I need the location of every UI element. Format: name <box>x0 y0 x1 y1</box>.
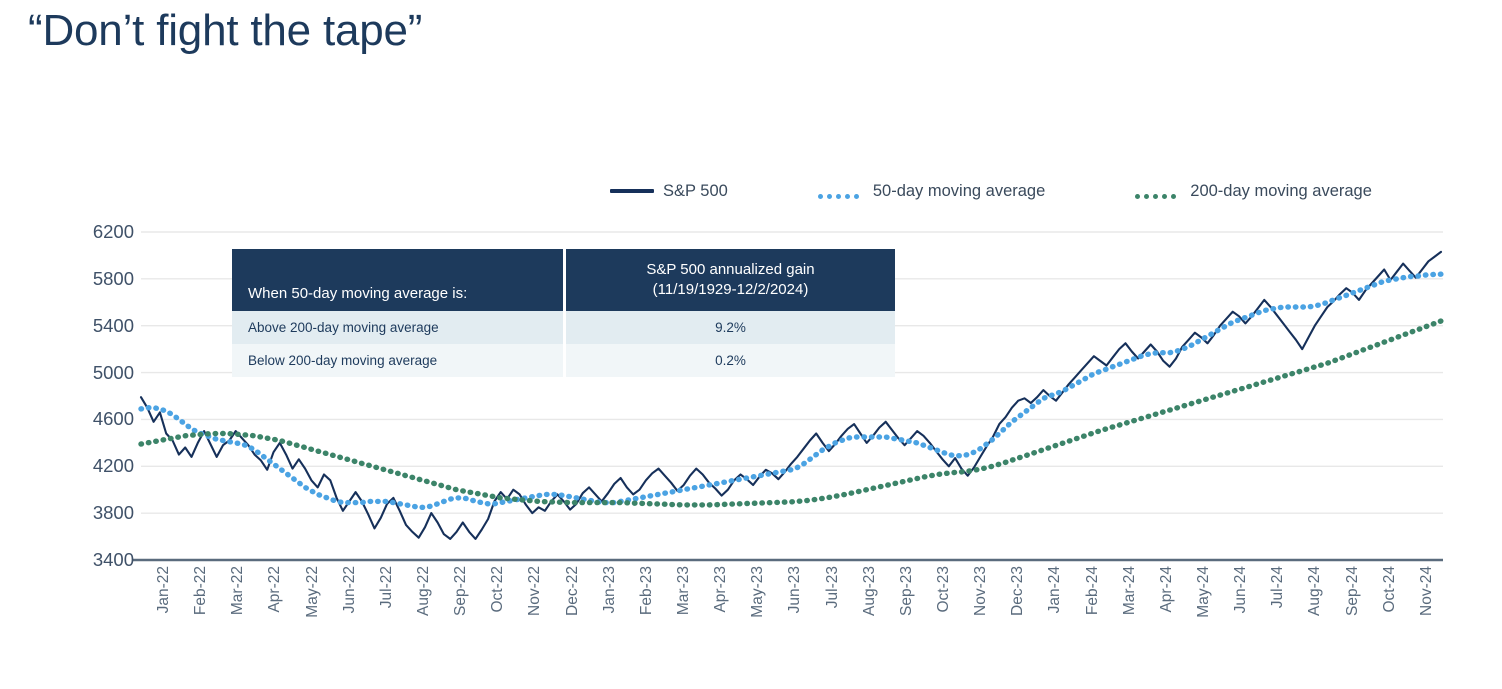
x-tick-label: Jun-22 <box>341 566 359 613</box>
x-tick-label: Sep-22 <box>452 566 470 616</box>
table-header-right: S&P 500 annualized gain (11/19/1929-12/2… <box>566 249 895 311</box>
x-tick-label: Jun-23 <box>786 566 804 613</box>
table-header-right-line2: (11/19/1929-12/2/2024) <box>572 280 889 300</box>
x-tick-label: Jun-24 <box>1232 566 1250 613</box>
x-tick-label: Aug-23 <box>861 566 879 616</box>
x-tick-label: Oct-24 <box>1381 566 1399 613</box>
x-tick-label: Aug-24 <box>1306 566 1324 616</box>
table-cell-value: 0.2% <box>566 344 895 377</box>
x-tick-label: Jul-23 <box>824 566 842 608</box>
table-header-row: When 50-day moving average is: S&P 500 a… <box>232 249 895 311</box>
x-tick-label: Jul-24 <box>1269 566 1287 608</box>
x-tick-label: Jul-22 <box>378 566 396 608</box>
x-tick-label: Jan-23 <box>601 566 619 613</box>
x-tick-label: May-24 <box>1195 566 1213 618</box>
x-tick-label: Dec-23 <box>1009 566 1027 616</box>
x-tick-label: May-22 <box>304 566 322 618</box>
x-tick-label: Feb-24 <box>1084 566 1102 615</box>
x-tick-label: Mar-22 <box>229 566 247 615</box>
chart-container: S&P 500 50-day moving average 200-day mo… <box>0 0 1502 689</box>
x-tick-label: Jan-22 <box>155 566 173 613</box>
x-tick-label: Jan-24 <box>1046 566 1064 613</box>
x-tick-label: Nov-24 <box>1418 566 1436 616</box>
x-tick-label: Aug-22 <box>415 566 433 616</box>
x-tick-label: Oct-22 <box>489 566 507 613</box>
table-cell-value: 9.2% <box>566 311 895 344</box>
table-cell-label: Above 200-day moving average <box>232 311 563 344</box>
table-row: Above 200-day moving average 9.2% <box>232 311 895 344</box>
x-tick-label: Nov-22 <box>526 566 544 616</box>
x-tick-label: Nov-23 <box>972 566 990 616</box>
x-tick-label: May-23 <box>749 566 767 618</box>
x-tick-label: Feb-22 <box>192 566 210 615</box>
x-tick-label: Apr-22 <box>266 566 284 613</box>
table-row: Below 200-day moving average 0.2% <box>232 344 895 377</box>
x-tick-label: Apr-23 <box>712 566 730 613</box>
x-tick-label: Apr-24 <box>1158 566 1176 613</box>
x-tick-label: Feb-23 <box>638 566 656 615</box>
x-tick-label: Oct-23 <box>935 566 953 613</box>
x-tick-label: Mar-23 <box>675 566 693 615</box>
stats-table: When 50-day moving average is: S&P 500 a… <box>232 249 895 377</box>
x-tick-label: Sep-24 <box>1344 566 1362 616</box>
table-header-left: When 50-day moving average is: <box>232 249 563 311</box>
x-tick-label: Sep-23 <box>898 566 916 616</box>
table-cell-label: Below 200-day moving average <box>232 344 563 377</box>
x-tick-label: Dec-22 <box>564 566 582 616</box>
table-header-right-line1: S&P 500 annualized gain <box>572 260 889 280</box>
x-tick-label: Mar-24 <box>1121 566 1139 615</box>
